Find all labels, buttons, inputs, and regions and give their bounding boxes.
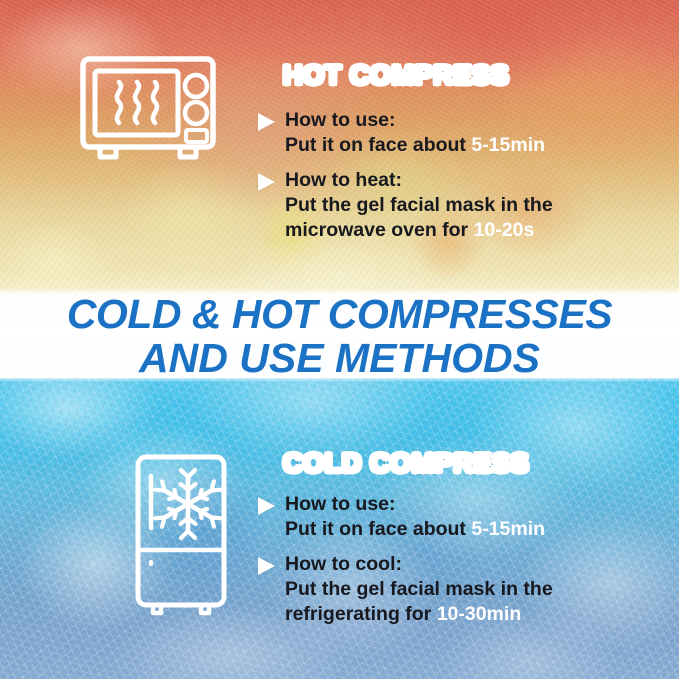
cold-bullet-1-text: How to use: Put it on face about 5-15min bbox=[285, 492, 545, 542]
hot-bullet-1-highlight: 5-15min bbox=[471, 134, 545, 156]
hot-bullet-how-to-heat: How to heat: Put the gel facial mask in … bbox=[258, 168, 553, 243]
hot-bullet-1-label: How to use: bbox=[285, 109, 396, 131]
cold-compress-title: COLD COMPRESS bbox=[283, 448, 529, 479]
main-banner: COLD & HOT COMPRESSES AND USE METHODS bbox=[0, 292, 679, 380]
banner-line-1: COLD & HOT COMPRESSES bbox=[0, 292, 679, 336]
arrow-bullet-icon bbox=[258, 497, 275, 515]
hot-bullet-2-highlight: 10-20s bbox=[474, 219, 535, 241]
cold-bullet-2-label: How to cool: bbox=[285, 553, 402, 575]
hot-bullet-2-text: How to heat: Put the gel facial mask in … bbox=[285, 168, 553, 243]
hot-bullet-2-detail-line2: microwave oven for bbox=[285, 219, 474, 241]
cold-bullet-how-to-use: How to use: Put it on face about 5-15min bbox=[258, 492, 545, 542]
cold-bullet-2-detail-line2: refrigerating for bbox=[285, 603, 437, 625]
cold-bullet-1-label: How to use: bbox=[285, 493, 396, 515]
banner-line-2: AND USE METHODS bbox=[0, 336, 679, 380]
arrow-bullet-icon bbox=[258, 113, 275, 131]
hot-bullet-how-to-use: How to use: Put it on face about 5-15min bbox=[258, 108, 545, 158]
hot-bullet-2-label: How to heat: bbox=[285, 169, 402, 191]
hot-compress-title: HOT COMPRESS bbox=[283, 60, 509, 91]
poster-canvas: HOT COMPRESS HOT COMPRESS How to use: Pu… bbox=[0, 0, 679, 679]
cold-bullet-1-detail: Put it on face about bbox=[285, 518, 471, 540]
cold-bullet-2-text: How to cool: Put the gel facial mask in … bbox=[285, 552, 553, 627]
hot-bullet-2-detail-line1: Put the gel facial mask in the bbox=[285, 194, 553, 216]
hot-bullet-1-text: How to use: Put it on face about 5-15min bbox=[285, 108, 545, 158]
cold-bullet-2-detail-line1: Put the gel facial mask in the bbox=[285, 578, 553, 600]
arrow-bullet-icon bbox=[258, 557, 275, 575]
refrigerator-icon bbox=[133, 452, 231, 625]
microwave-icon bbox=[78, 54, 218, 171]
hot-bullet-1-detail: Put it on face about bbox=[285, 134, 471, 156]
cold-bullet-2-highlight: 10-30min bbox=[437, 603, 522, 625]
cold-bullet-1-highlight: 5-15min bbox=[471, 518, 545, 540]
cold-bullet-how-to-cool: How to cool: Put the gel facial mask in … bbox=[258, 552, 553, 627]
arrow-bullet-icon bbox=[258, 173, 275, 191]
